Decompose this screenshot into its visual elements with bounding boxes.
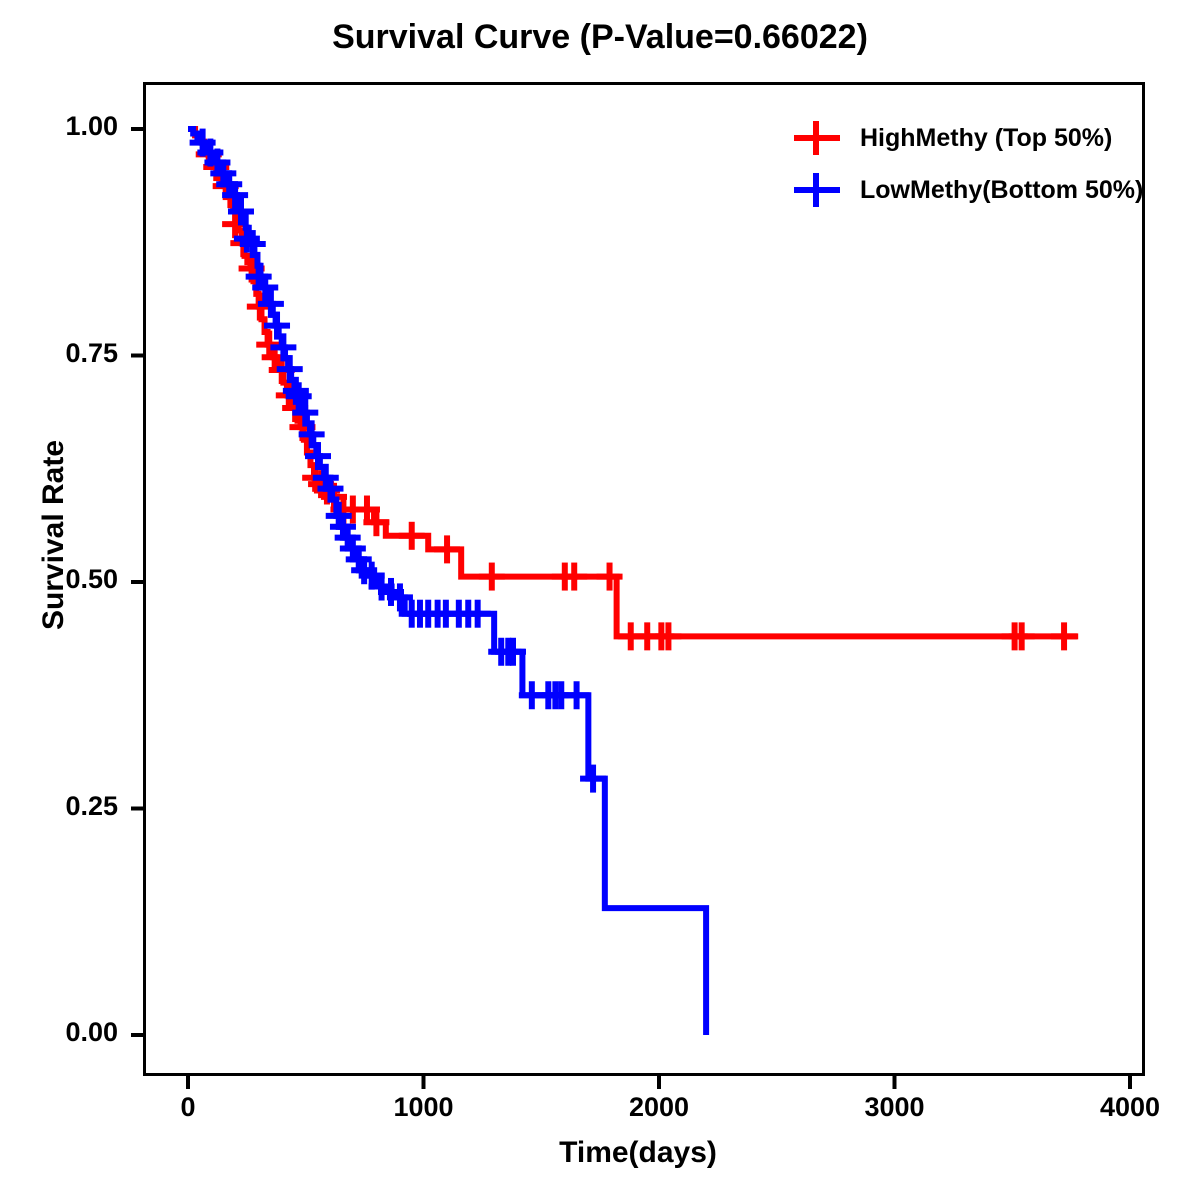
x-tick-label: 1000	[354, 1092, 494, 1123]
x-tick-label: 4000	[1060, 1092, 1200, 1123]
legend-plus-icon	[790, 118, 846, 158]
series-1	[188, 129, 706, 1035]
legend-label: HighMethy (Top 50%)	[860, 124, 1112, 153]
chart-legend: HighMethy (Top 50%)LowMethy(Bottom 50%)	[790, 112, 1160, 216]
legend-item[interactable]: HighMethy (Top 50%)	[790, 112, 1160, 164]
x-tick-label: 2000	[589, 1092, 729, 1123]
y-tick-label: 0.50	[8, 564, 118, 595]
x-tick-label: 0	[118, 1092, 258, 1123]
y-tick-label: 0.75	[8, 338, 118, 369]
legend-item[interactable]: LowMethy(Bottom 50%)	[790, 164, 1160, 216]
series-layer	[188, 129, 1078, 1035]
survival-step-line	[188, 129, 706, 1035]
y-tick-label: 0.25	[8, 791, 118, 822]
axis-ticks	[131, 129, 1130, 1089]
x-axis-label: Time(days)	[143, 1136, 1133, 1170]
legend-plus-icon	[790, 170, 846, 210]
y-tick-label: 1.00	[8, 111, 118, 142]
y-tick-label: 0.00	[8, 1017, 118, 1048]
survival-curve-figure: Survival Curve (P-Value=0.66022) Surviva…	[0, 0, 1200, 1200]
legend-label: LowMethy(Bottom 50%)	[860, 176, 1143, 205]
x-tick-label: 3000	[825, 1092, 965, 1123]
